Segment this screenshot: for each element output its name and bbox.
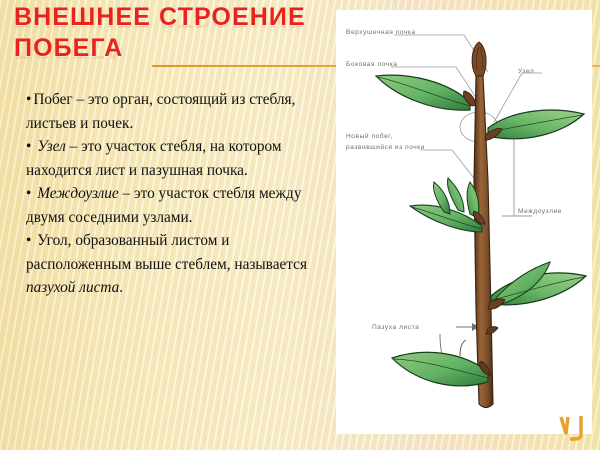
plant-illustration xyxy=(336,10,592,434)
label-lateral-bud: Боковая почка xyxy=(346,60,398,69)
term-pobeg: Побег xyxy=(33,91,72,108)
internode-bracket xyxy=(502,138,532,216)
label-leaf-axil: Пазуха листа xyxy=(372,323,419,332)
bullet-item-pobeg: •Побег – это орган, состоящий из стебля,… xyxy=(26,88,331,135)
leaf-upper-left xyxy=(376,75,470,110)
new-shoot-cluster xyxy=(410,178,482,232)
term-uzel: Узел xyxy=(37,138,66,155)
slide-title: ВНЕШНЕЕ СТРОЕНИЕ ВНЕШНЕЕ СТРОЕНИЕ ПОБЕГА… xyxy=(14,2,344,74)
label-new-shoot-line-1: Новый побег, xyxy=(346,132,393,141)
bullet-item-uzel: • Узел – это участок стебля, на котором … xyxy=(26,135,331,182)
label-apical-bud: Верхушечная почка xyxy=(346,28,416,37)
dash-pobeg: – xyxy=(73,91,88,108)
shoot-structure-diagram: Верхушечная почка Боковая почка Новый по… xyxy=(336,10,592,434)
page-title-reflection-2: ПОБЕГА xyxy=(14,51,123,64)
dash-mezhdouzlie: – xyxy=(119,185,134,202)
leaf-upper-right xyxy=(488,110,584,139)
label-node: Узел xyxy=(518,67,534,76)
slide-canvas: ВНЕШНЕЕ СТРОЕНИЕ ВНЕШНЕЕ СТРОЕНИЕ ПОБЕГА… xyxy=(0,0,600,450)
axil-node-marker xyxy=(486,327,498,335)
apical-bud-shape xyxy=(472,42,486,76)
dash-uzel: – xyxy=(66,138,81,155)
page-title-reflection-1: ВНЕШНЕЕ СТРОЕНИЕ xyxy=(14,19,306,33)
period-ugol: . xyxy=(119,279,123,296)
leaf-bottom-left xyxy=(392,340,488,386)
u-mark-logo-icon xyxy=(556,414,594,444)
bullet-item-ugol: • Угол, образованный листом и расположен… xyxy=(26,229,331,300)
term-pazuha-lista: пазухой листа xyxy=(26,279,119,296)
bullet-marker: • xyxy=(26,138,31,155)
body-text-block: •Побег – это орган, состоящий из стебля,… xyxy=(26,88,331,300)
u-mark-logo xyxy=(556,414,594,444)
term-ugol: Угол, xyxy=(37,232,71,249)
bullet-marker: • xyxy=(26,185,31,202)
term-mezhdouzlie: Междоузлие xyxy=(37,185,119,202)
main-stem xyxy=(474,75,493,408)
label-internode: Междоузлие xyxy=(518,207,562,216)
bullet-item-mezhdouzlie: • Междоузлие – это участок стебля между … xyxy=(26,182,331,229)
leaf-lower-right xyxy=(491,262,586,305)
bullet-marker: • xyxy=(26,232,31,249)
bullet-marker: • xyxy=(26,91,31,108)
label-new-shoot-line-2: развившийся из почки xyxy=(346,143,425,152)
